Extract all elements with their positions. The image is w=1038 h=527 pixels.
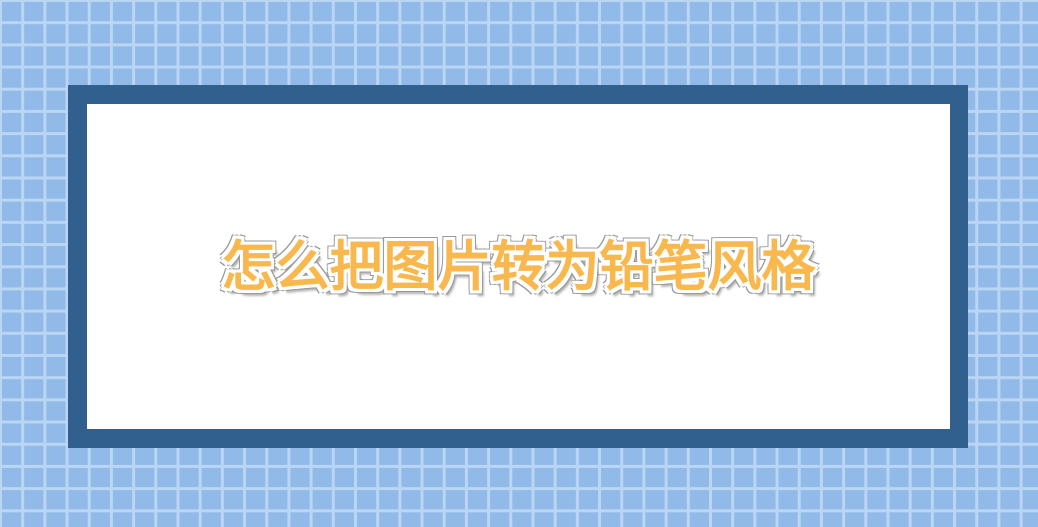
headline-title: 怎么把图片转为铅笔风格 xyxy=(222,240,816,294)
bordered-card-frame: 怎么把图片转为铅笔风格 xyxy=(68,85,968,448)
slide-canvas: 怎么把图片转为铅笔风格 xyxy=(0,0,1038,527)
headline-container: 怎么把图片转为铅笔风格 xyxy=(87,240,950,294)
card-white-surface: 怎么把图片转为铅笔风格 xyxy=(87,104,950,429)
